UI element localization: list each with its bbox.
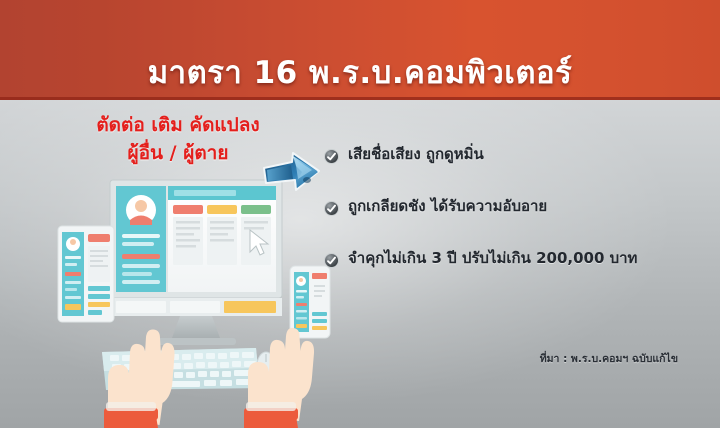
- right-hand: [244, 328, 314, 428]
- page-title: มาตรา 16 พ.ร.บ.คอมพิวเตอร์: [0, 47, 720, 97]
- header-band: มาตรา 16 พ.ร.บ.คอมพิวเตอร์: [0, 0, 720, 100]
- caption-line-1: ตัดต่อ เติม คัดแปลง: [96, 114, 259, 136]
- source-credit: ที่มา : พ.ร.บ.คอมฯ ฉบับแก้ไข: [540, 350, 678, 367]
- infographic-slide: มาตรา 16 พ.ร.บ.คอมพิวเตอร์: [0, 0, 720, 428]
- tablet: [58, 226, 114, 322]
- check-circle-icon: [324, 201, 339, 216]
- bullet-list: เสียชื่อเสียง ถูกดูหมิ่น ถูกเกลียดชัง ได…: [324, 146, 704, 302]
- list-item: ถูกเกลียดชัง ได้รับความอับอาย: [324, 198, 704, 216]
- monitor: [110, 180, 282, 345]
- list-item-label: จำคุกไม่เกิน 3 ปี ปรับไม่เกิน 200,000 บา…: [348, 250, 637, 267]
- list-item: เสียชื่อเสียง ถูกดูหมิ่น: [324, 146, 704, 164]
- arrow-right-3d-icon: [262, 150, 324, 208]
- list-item: จำคุกไม่เกิน 3 ปี ปรับไม่เกิน 200,000 บา…: [324, 250, 704, 268]
- list-item-label: ถูกเกลียดชัง ได้รับความอับอาย: [348, 198, 547, 215]
- check-circle-icon: [324, 253, 339, 268]
- browser-url-bar: [168, 186, 276, 200]
- list-item-label: เสียชื่อเสียง ถูกดูหมิ่น: [348, 146, 484, 163]
- check-circle-icon: [324, 149, 339, 164]
